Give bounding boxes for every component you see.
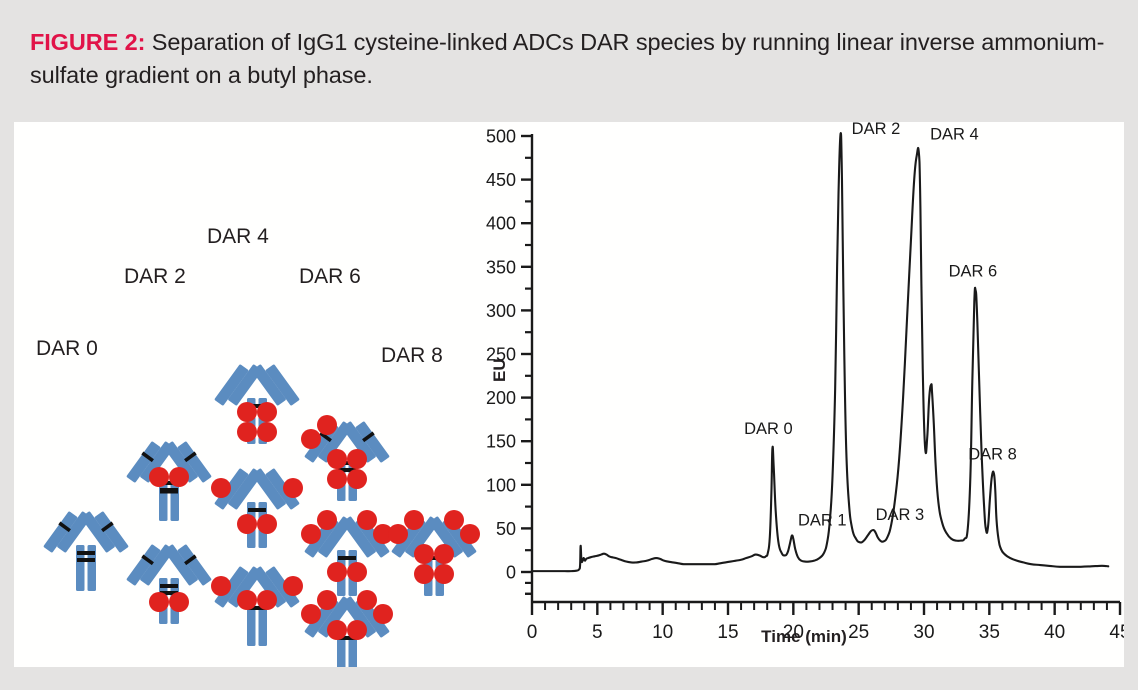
y-tick-label: 400	[486, 214, 516, 234]
antibody-dar4-a	[214, 364, 300, 444]
y-tick-label: 500	[486, 127, 516, 147]
antibody-dar0	[43, 511, 129, 591]
antibody-dar4-c	[211, 566, 303, 646]
schematic-label-dar0: DAR 0	[36, 337, 98, 361]
antibody-dar6-a	[301, 415, 390, 501]
y-axis-title: EU	[490, 358, 510, 382]
y-tick-label: 350	[486, 257, 516, 277]
chromatogram-trace	[532, 133, 1108, 571]
y-tick-label: 200	[486, 388, 516, 408]
x-axis-title: Time (min)	[484, 627, 1124, 647]
antibody-dar2-a	[126, 441, 212, 521]
adc-schematic: DAR 0 DAR 2 DAR 4 DAR 6 DAR 8	[14, 122, 484, 667]
y-tick-label: 300	[486, 301, 516, 321]
schematic-label-dar6: DAR 6	[299, 265, 361, 289]
figure-caption: FIGURE 2: Separation of IgG1 cysteine-li…	[30, 26, 1110, 92]
figure-caption-band: FIGURE 2: Separation of IgG1 cysteine-li…	[0, 4, 1138, 112]
peak-annotation: DAR 1	[798, 511, 847, 529]
y-tick-label: 100	[486, 475, 516, 495]
peak-annotation: DAR 4	[930, 126, 979, 144]
antibody-dar4-b	[211, 468, 303, 548]
schematic-label-dar4: DAR 4	[207, 225, 269, 249]
y-tick-label: 0	[506, 563, 516, 583]
antibody-dar6-c	[301, 590, 393, 667]
chromatogram-plot: 0501001502002503003504004505000510152025…	[484, 122, 1124, 667]
schematic-label-dar2: DAR 2	[124, 265, 186, 289]
y-tick-label: 150	[486, 432, 516, 452]
antibody-dar2-b	[126, 544, 212, 624]
figure-caption-text: Separation of IgG1 cysteine-linked ADCs …	[30, 29, 1104, 88]
y-tick-label: 450	[486, 170, 516, 190]
peak-annotation: DAR 2	[852, 122, 901, 138]
peak-annotation: DAR 3	[876, 506, 925, 524]
chromatogram: 0501001502002503003504004505000510152025…	[484, 122, 1124, 667]
antibody-dar8	[388, 510, 480, 596]
peak-annotation: DAR 0	[744, 420, 793, 438]
figure-container: FIGURE 2: Separation of IgG1 cysteine-li…	[0, 0, 1138, 690]
y-tick-label: 50	[496, 519, 516, 539]
peak-annotation: DAR 8	[968, 445, 1017, 463]
antibody-dar6-b	[301, 510, 393, 596]
schematic-label-dar8: DAR 8	[381, 344, 443, 368]
figure-content-panel: DAR 0 DAR 2 DAR 4 DAR 6 DAR 8	[14, 122, 1124, 667]
figure-number-label: FIGURE 2:	[30, 29, 145, 55]
adc-antibody-diagram	[14, 122, 484, 667]
peak-annotation: DAR 6	[949, 262, 998, 280]
